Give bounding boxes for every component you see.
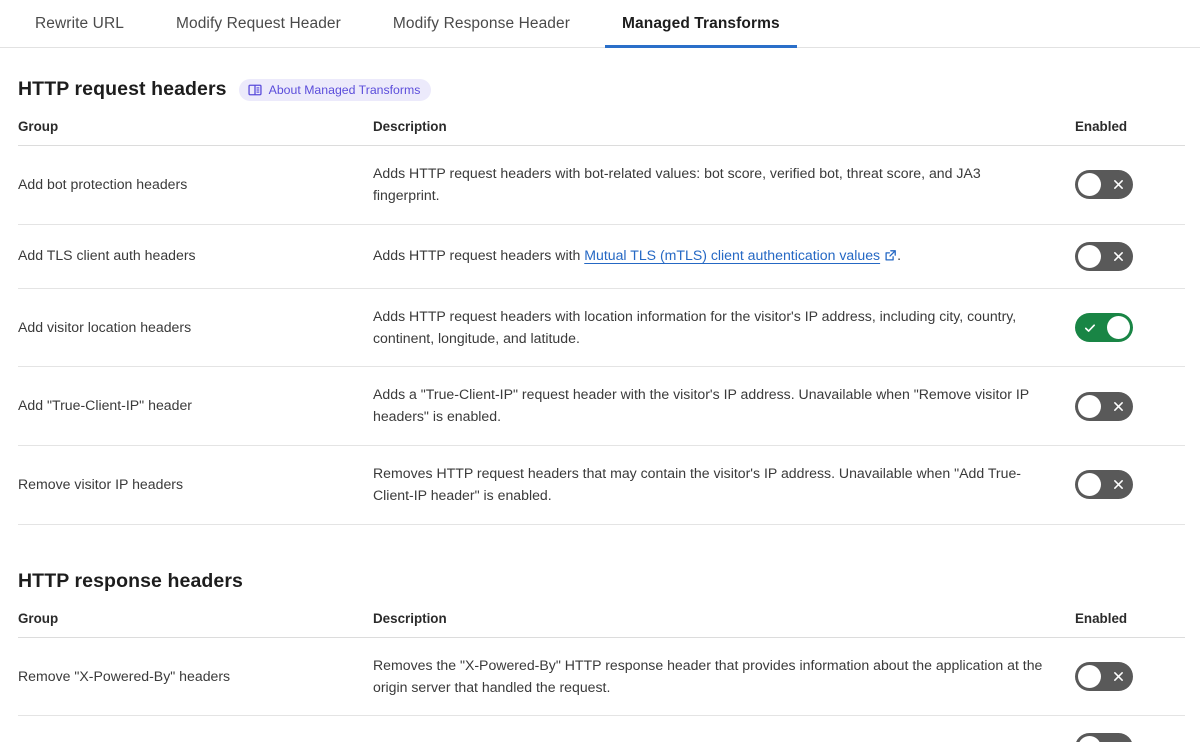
column-header-group: Group [18, 119, 373, 146]
row-description: Adds HTTP request headers with location … [373, 288, 1073, 367]
row-group-label: Add TLS client auth headers [18, 224, 373, 288]
column-header-description: Description [373, 611, 1073, 638]
toggle-knob [1078, 736, 1101, 742]
tab-modify-response-header[interactable]: Modify Response Header [376, 0, 587, 47]
row-description-suffix: . [897, 247, 901, 263]
toggle-knob [1078, 173, 1101, 196]
section-header: HTTP response headers [18, 570, 1185, 594]
managed-transforms-content: HTTP request headers About Managed Trans… [0, 78, 1200, 742]
toggle-add-tls-client-auth-headers[interactable] [1075, 242, 1133, 271]
row-enabled-cell [1073, 367, 1185, 446]
close-icon [1105, 392, 1131, 421]
row-description: Removes HTTP request headers that may co… [373, 446, 1073, 525]
transform-rules-tabbar: Rewrite URL Modify Request Header Modify… [0, 0, 1200, 48]
request-headers-table: Group Description Enabled Add bot protec… [18, 119, 1185, 525]
row-group-label: Add bot protection headers [18, 146, 373, 225]
table-row: Add "True-Client-IP" header Adds a "True… [18, 367, 1185, 446]
section-header: HTTP request headers About Managed Trans… [18, 78, 1185, 102]
row-description: Adds HTTP request headers with bot-relat… [373, 146, 1073, 225]
toggle-add-bot-protection-headers[interactable] [1075, 170, 1133, 199]
toggle-knob [1107, 316, 1130, 339]
close-icon [1105, 662, 1131, 691]
section-http-response-headers: HTTP response headers Group Description … [18, 570, 1185, 742]
section-http-request-headers: HTTP request headers About Managed Trans… [18, 78, 1185, 525]
row-enabled-cell [1073, 446, 1185, 525]
row-enabled-cell [1073, 224, 1185, 288]
tab-managed-transforms[interactable]: Managed Transforms [605, 0, 797, 47]
column-header-enabled: Enabled [1073, 119, 1185, 146]
close-icon [1105, 170, 1131, 199]
page-title-request-headers: HTTP request headers [18, 80, 227, 100]
table-header-row: Group Description Enabled [18, 119, 1185, 146]
row-group-label: Remove "X-Powered-By" headers [18, 637, 373, 716]
toggle-remove-visitor-ip-headers[interactable] [1075, 470, 1133, 499]
table-row: Add security headers Adds several securi… [18, 716, 1185, 742]
close-icon [1105, 242, 1131, 271]
close-icon [1105, 733, 1131, 742]
toggle-remove-x-powered-by-headers[interactable] [1075, 662, 1133, 691]
column-header-group: Group [18, 611, 373, 638]
row-enabled-cell [1073, 146, 1185, 225]
row-group-label: Add "True-Client-IP" header [18, 367, 373, 446]
table-header-row: Group Description Enabled [18, 611, 1185, 638]
row-description-prefix: Adds HTTP request headers with [373, 247, 584, 263]
row-description: Adds a "True-Client-IP" request header w… [373, 367, 1073, 446]
toggle-add-true-client-ip-header[interactable] [1075, 392, 1133, 421]
row-description: Adds HTTP request headers with Mutual TL… [373, 224, 1073, 288]
check-icon [1077, 313, 1103, 342]
close-icon [1105, 470, 1131, 499]
toggle-knob [1078, 245, 1101, 268]
row-description: Adds several security-related HTTP respo… [373, 716, 1073, 742]
row-group-label: Add visitor location headers [18, 288, 373, 367]
row-description: Removes the "X-Powered-By" HTTP response… [373, 637, 1073, 716]
external-link-icon [884, 247, 897, 260]
column-header-enabled: Enabled [1073, 611, 1185, 638]
about-managed-transforms-label: About Managed Transforms [269, 84, 421, 96]
row-enabled-cell [1073, 637, 1185, 716]
tab-modify-request-header[interactable]: Modify Request Header [159, 0, 358, 47]
table-row: Add visitor location headers Adds HTTP r… [18, 288, 1185, 367]
toggle-add-security-headers[interactable] [1075, 733, 1133, 742]
about-managed-transforms-badge[interactable]: About Managed Transforms [239, 79, 432, 101]
table-row: Remove "X-Powered-By" headers Removes th… [18, 637, 1185, 716]
toggle-add-visitor-location-headers[interactable] [1075, 313, 1133, 342]
response-headers-table: Group Description Enabled Remove "X-Powe… [18, 611, 1185, 742]
tab-rewrite-url[interactable]: Rewrite URL [18, 0, 141, 47]
row-enabled-cell [1073, 288, 1185, 367]
table-row: Add bot protection headers Adds HTTP req… [18, 146, 1185, 225]
table-row: Remove visitor IP headers Removes HTTP r… [18, 446, 1185, 525]
row-enabled-cell [1073, 716, 1185, 742]
toggle-knob [1078, 473, 1101, 496]
mutual-tls-doc-link[interactable]: Mutual TLS (mTLS) client authentication … [584, 247, 880, 263]
row-group-label: Remove visitor IP headers [18, 446, 373, 525]
table-row: Add TLS client auth headers Adds HTTP re… [18, 224, 1185, 288]
book-icon [248, 83, 262, 97]
toggle-knob [1078, 395, 1101, 418]
column-header-description: Description [373, 119, 1073, 146]
row-group-label: Add security headers [18, 716, 373, 742]
toggle-knob [1078, 665, 1101, 688]
page-title-response-headers: HTTP response headers [18, 572, 243, 592]
